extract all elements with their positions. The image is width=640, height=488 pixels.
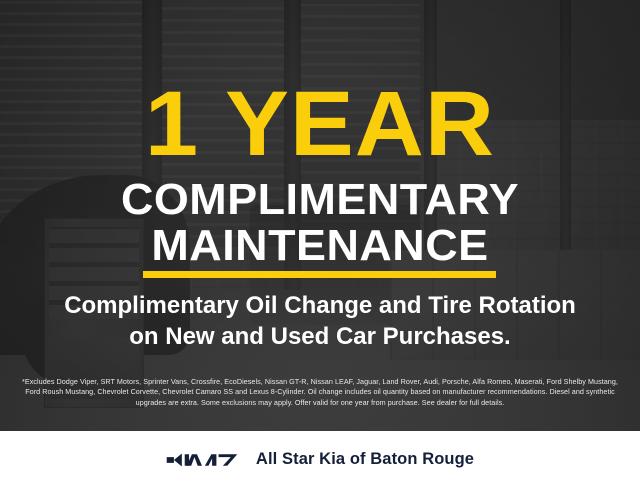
headline-year: 1 YEAR xyxy=(0,78,640,170)
footer-bar: All Star Kia of Baton Rouge xyxy=(0,431,640,488)
headline-complimentary: COMPLIMENTARY xyxy=(0,178,640,222)
promotional-banner: 1 YEAR COMPLIMENTARY MAINTENANCE Complim… xyxy=(0,0,640,488)
hero-section: 1 YEAR COMPLIMENTARY MAINTENANCE Complim… xyxy=(0,0,640,431)
subheadline-line-1: Complimentary Oil Change and Tire Rotati… xyxy=(0,291,640,320)
kia-logo-icon xyxy=(166,449,238,471)
disclaimer-fine-print: *Excludes Dodge Viper, SRT Motors, Sprin… xyxy=(14,377,626,408)
dealer-name: All Star Kia of Baton Rouge xyxy=(256,450,474,469)
hero-content: 1 YEAR COMPLIMENTARY MAINTENANCE Complim… xyxy=(0,0,640,431)
subheadline-line-2: on New and Used Car Purchases. xyxy=(0,322,640,351)
headline-maintenance: MAINTENANCE xyxy=(0,224,640,268)
yellow-divider-rule xyxy=(143,271,496,278)
